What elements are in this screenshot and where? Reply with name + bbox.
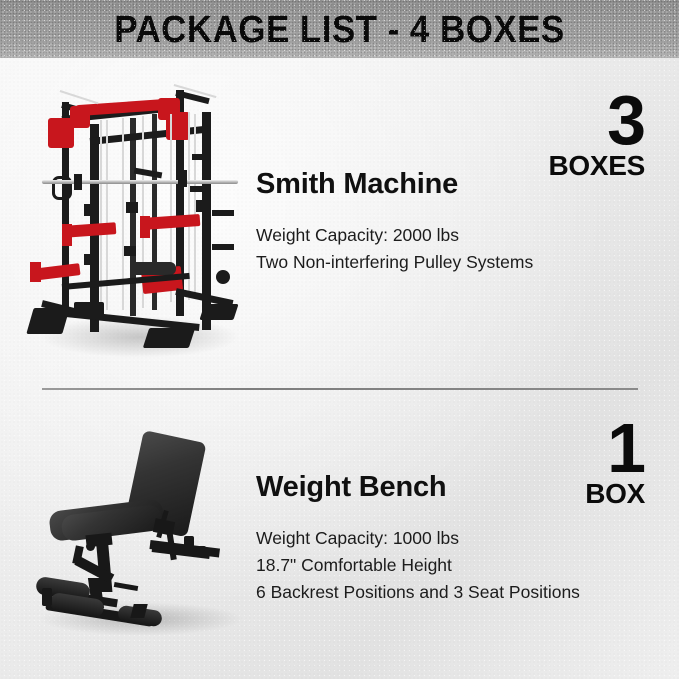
weight-bench-image	[28, 424, 244, 636]
smith-machine-image	[26, 84, 248, 366]
product-row-smith-machine: Smith Machine Weight Capacity: 2000 lbs …	[0, 58, 679, 388]
box-count-weight-bench: 1 BOX	[465, 417, 645, 509]
product-spec: Weight Capacity: 2000 lbs	[256, 222, 533, 249]
box-count-number: 3	[465, 89, 645, 151]
box-count-label: BOXES	[465, 151, 645, 181]
page-title: PACKAGE LIST - 4 BOXES	[27, 11, 652, 49]
product-spec: Two Non-interfering Pulley Systems	[256, 249, 533, 276]
product-spec: 6 Backrest Positions and 3 Seat Position…	[256, 579, 580, 606]
smith-machine-info: Smith Machine Weight Capacity: 2000 lbs …	[256, 168, 533, 276]
box-count-smith-machine: 3 BOXES	[465, 89, 645, 181]
header-band: PACKAGE LIST - 4 BOXES	[0, 0, 679, 58]
package-list-infographic: PACKAGE LIST - 4 BOXES	[0, 0, 679, 679]
product-spec: Weight Capacity: 1000 lbs	[256, 525, 580, 552]
box-count-number: 1	[465, 417, 645, 479]
product-row-weight-bench: Weight Bench Weight Capacity: 1000 lbs 1…	[0, 400, 679, 679]
section-divider	[42, 388, 638, 390]
box-count-label: BOX	[465, 479, 645, 509]
product-spec: 18.7" Comfortable Height	[256, 552, 580, 579]
